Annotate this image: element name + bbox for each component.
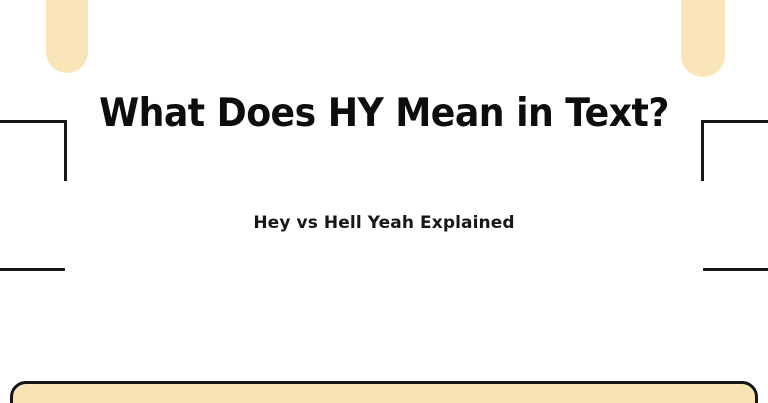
bottom-callout-panel <box>10 381 758 403</box>
headline-block: What Does HY Mean in Text? Hey vs Hell Y… <box>0 92 768 136</box>
page-title: What Does HY Mean in Text? <box>27 92 741 136</box>
left-beige-bar-decoration <box>46 0 88 73</box>
right-beige-bar-decoration <box>681 0 725 77</box>
page-subtitle: Hey vs Hell Yeah Explained <box>0 211 768 235</box>
right-bracket-bottom-rule <box>703 268 768 271</box>
article-hero-banner: What Does HY Mean in Text? Hey vs Hell Y… <box>0 0 768 403</box>
left-bracket-bottom-rule <box>0 268 65 271</box>
